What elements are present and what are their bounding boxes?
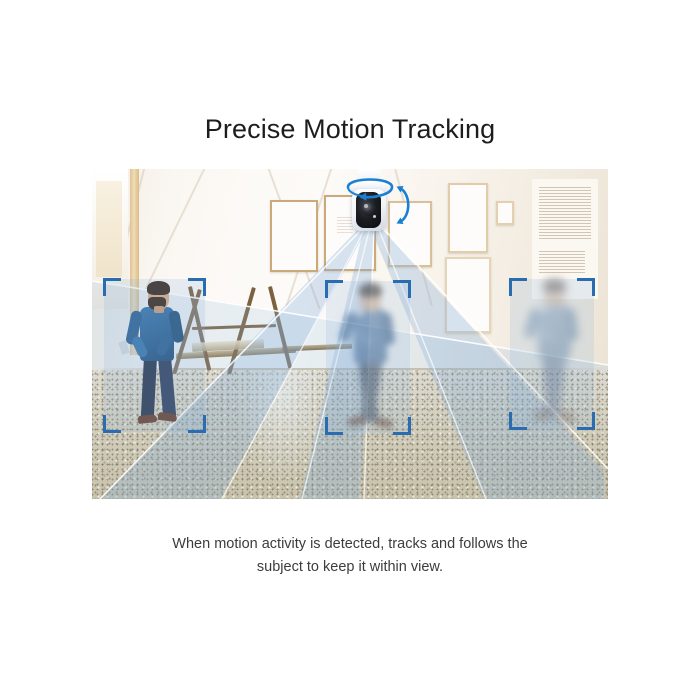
caption: When motion activity is detected, tracks…	[0, 533, 700, 579]
tracking-box-tint	[326, 281, 410, 434]
illustration-image	[92, 169, 608, 499]
camera-status-led	[373, 215, 376, 218]
bracket-top-right	[188, 278, 206, 296]
bracket-top-left	[103, 278, 121, 296]
bracket-bottom-left	[103, 415, 121, 433]
bracket-top-left	[325, 280, 343, 298]
bracket-bottom-right	[393, 417, 411, 435]
tracking-box-middle[interactable]	[326, 281, 410, 434]
tracking-box-right[interactable]	[510, 279, 594, 429]
bracket-top-right	[393, 280, 411, 298]
pan-tilt-camera	[342, 169, 396, 243]
bracket-top-left	[509, 278, 527, 296]
tracking-box-tint	[510, 279, 594, 429]
bracket-bottom-right	[577, 412, 595, 430]
camera-lens-glint	[364, 204, 368, 208]
caption-line-2: subject to keep it within view.	[0, 556, 700, 579]
bracket-bottom-left	[325, 417, 343, 435]
bracket-top-right	[577, 278, 595, 296]
page-root: Precise Motion Tracking	[0, 0, 700, 700]
caption-line-1: When motion activity is detected, tracks…	[0, 533, 700, 556]
bracket-bottom-left	[509, 412, 527, 430]
page-title: Precise Motion Tracking	[0, 112, 700, 146]
tracking-box-left[interactable]	[104, 279, 205, 432]
bracket-bottom-right	[188, 415, 206, 433]
tracking-box-tint	[104, 279, 205, 432]
